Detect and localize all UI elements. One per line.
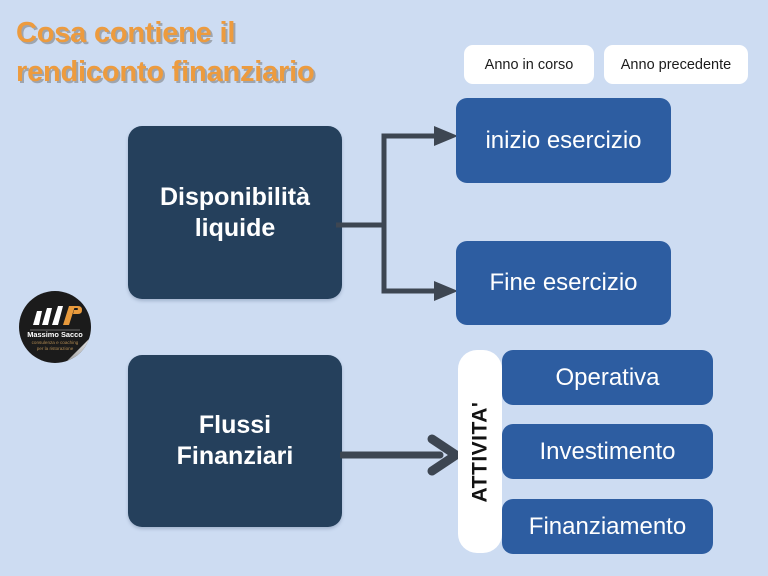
node-attivita-finanziamento: Finanziamento (502, 499, 713, 554)
logo-sticker: Massimo Sacco consulenza e coaching per … (18, 290, 92, 364)
node-flussi-finanziari-text: Flussi Finanziari (177, 410, 294, 472)
node-disponibilita-line-2: liquide (160, 213, 310, 244)
chip-anno-precedente-label: Anno precedente (621, 57, 731, 73)
node-flussi-line-1: Flussi (177, 410, 294, 441)
node-flussi-line-2: Finanziari (177, 441, 294, 472)
node-flussi-finanziari: Flussi Finanziari (128, 355, 342, 527)
node-inizio-esercizio: inizio esercizio (456, 98, 671, 183)
node-fine-esercizio-label: Fine esercizio (489, 269, 637, 297)
connector-fork-disponibilita (336, 120, 460, 310)
attivita-category-label: ATTIVITA' (468, 401, 492, 502)
slide-canvas: Cosa contiene il rendiconto finanziario … (0, 0, 768, 576)
node-attivita-investimento: Investimento (502, 424, 713, 479)
page-title: Cosa contiene il rendiconto finanziario (16, 14, 436, 91)
logo-tagline-line-2: per la ristorazione (18, 346, 92, 351)
node-fine-esercizio: Fine esercizio (456, 241, 671, 325)
title-line-1: Cosa contiene il (16, 14, 436, 53)
node-inizio-esercizio-label: inizio esercizio (485, 127, 641, 155)
title-line-2: rendiconto finanziario (16, 53, 436, 92)
chip-anno-in-corso: Anno in corso (464, 45, 594, 84)
chip-anno-precedente: Anno precedente (604, 45, 748, 84)
node-disponibilita-line-1: Disponibilità (160, 182, 310, 213)
logo-circle-icon (18, 290, 92, 364)
node-attivita-operativa: Operativa (502, 350, 713, 405)
logo-tagline-line-1: consulenza e coaching (18, 340, 92, 345)
attivita-category-pill: ATTIVITA' (458, 350, 502, 553)
node-disponibilita-liquide: Disponibilità liquide (128, 126, 342, 299)
logo-name: Massimo Sacco (18, 330, 92, 339)
node-disponibilita-liquide-text: Disponibilità liquide (160, 182, 310, 244)
connector-arrow-flussi (340, 425, 466, 485)
node-attivita-operativa-label: Operativa (555, 364, 659, 392)
chip-anno-in-corso-label: Anno in corso (485, 57, 574, 73)
node-attivita-finanziamento-label: Finanziamento (529, 513, 686, 541)
node-attivita-investimento-label: Investimento (539, 438, 675, 466)
